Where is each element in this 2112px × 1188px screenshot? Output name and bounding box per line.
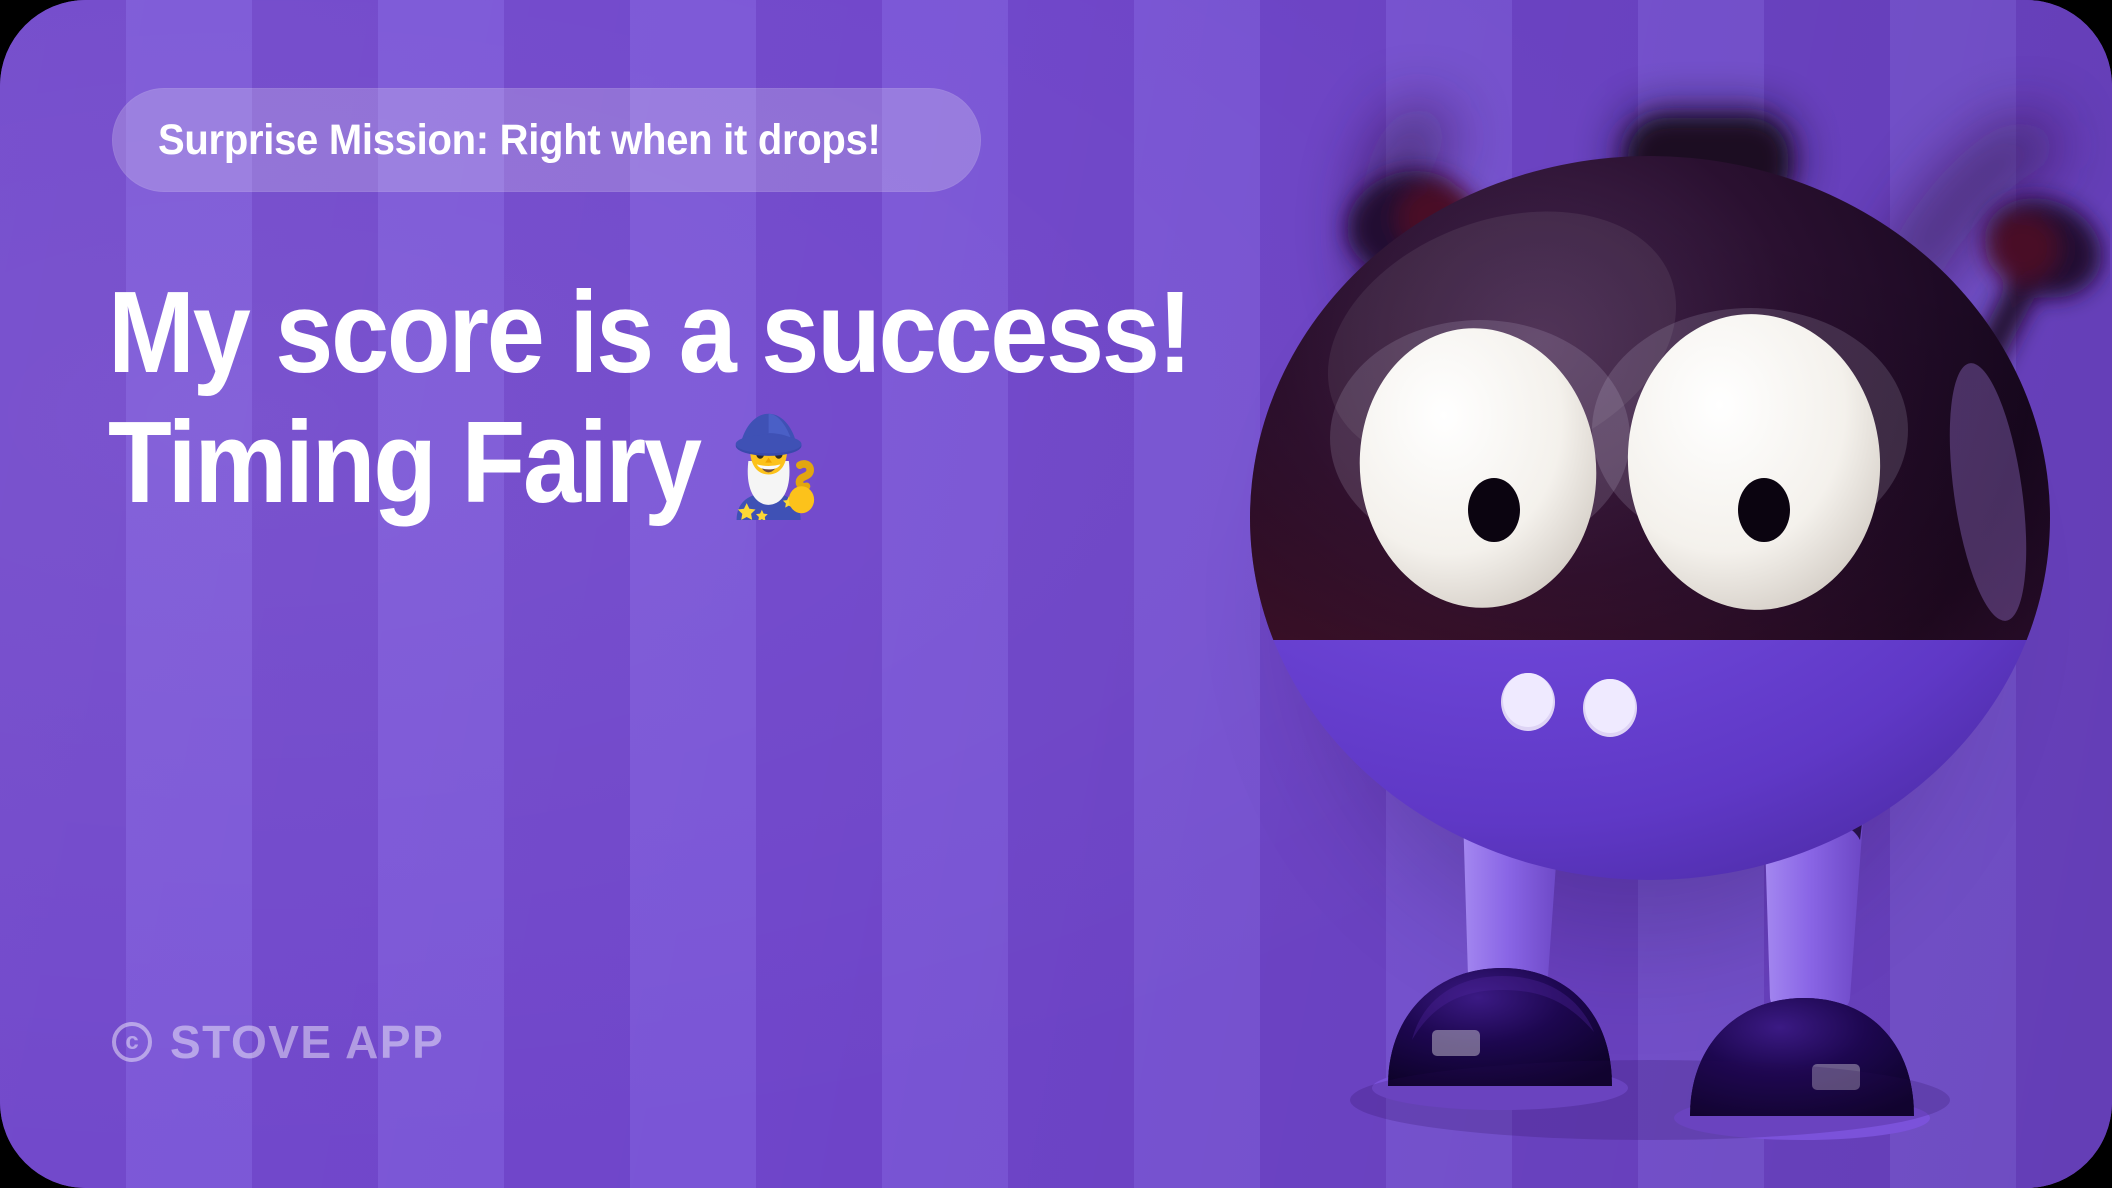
- mage-emoji: [714, 412, 822, 546]
- mission-badge: Surprise Mission: Right when it drops!: [112, 88, 981, 192]
- mascot-character: [1150, 40, 2110, 1188]
- text-column: Surprise Mission: Right when it drops! M…: [0, 0, 1180, 1188]
- headline-block: My score is a success! Timing Fairy: [108, 268, 1158, 546]
- headline-line-2: Timing Fairy: [108, 397, 700, 527]
- mission-badge-label: Surprise Mission: Right when it drops!: [158, 116, 881, 165]
- headline-line-2-wrapper: Timing Fairy: [108, 398, 1053, 546]
- headline-line-1: My score is a success!: [108, 268, 1053, 398]
- promo-card: Surprise Mission: Right when it drops! M…: [0, 0, 2112, 1188]
- watermark: c STOVE APP: [112, 1015, 444, 1069]
- copyright-icon: c: [112, 1022, 152, 1062]
- watermark-label: STOVE APP: [170, 1015, 444, 1069]
